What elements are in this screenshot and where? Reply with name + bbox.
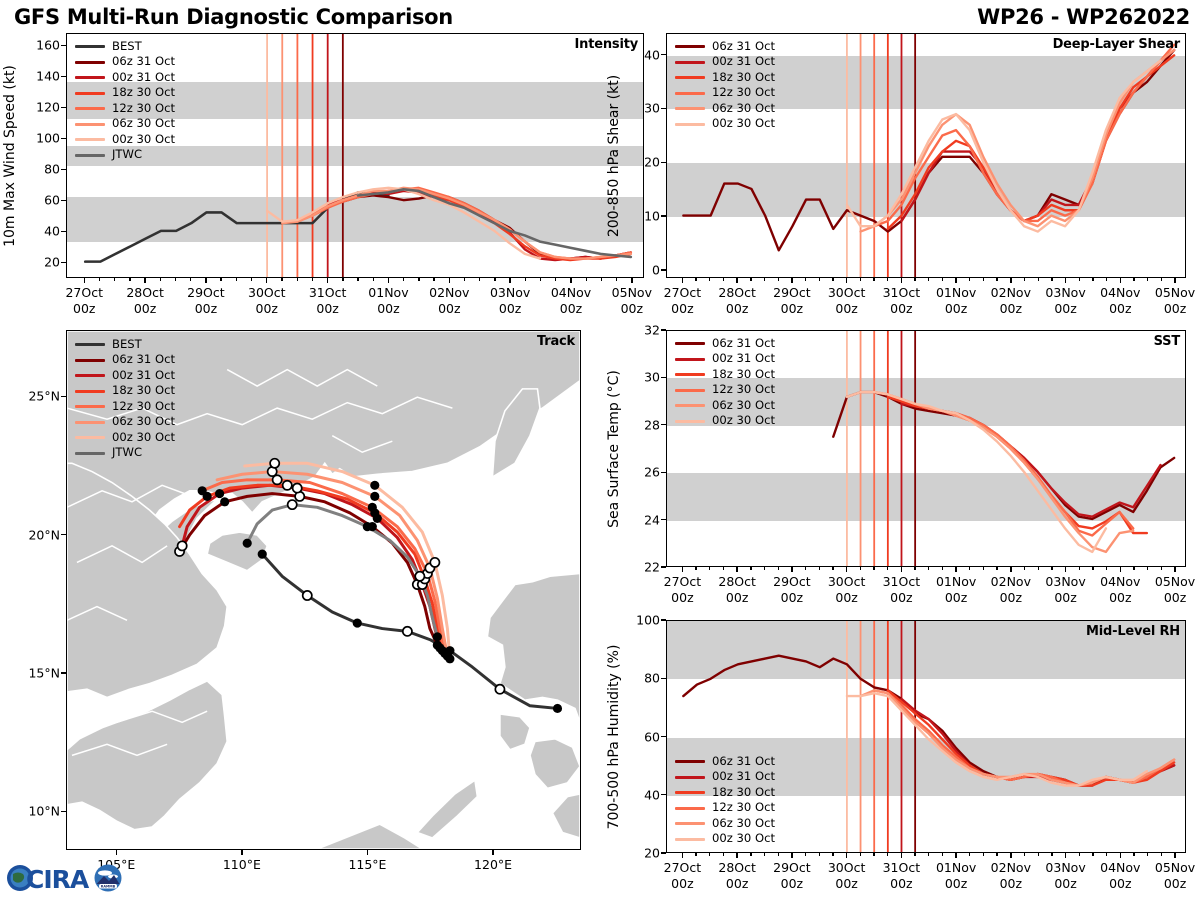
x-tick-mark-minor [764,853,765,856]
legend-item-12z-30-oct[interactable]: 12z 30 Oct [675,801,775,817]
x-tick-mark-minor [540,278,541,281]
lon-tick-mark [367,850,368,855]
x-tick-mark-minor [1161,853,1162,856]
x-tick-mark [901,567,902,572]
legend-item-00z-30-oct[interactable]: 00z 30 Oct [675,832,775,848]
x-tick-mark [955,278,956,283]
x-tick-mark [846,278,847,283]
x-tick-label: 28Oct00z [718,285,756,316]
legend-item-06z-30-oct[interactable]: 06z 30 Oct [675,398,775,414]
legend-swatch [75,374,105,377]
y-tick-mark [61,138,66,139]
x-tick-mark [736,853,737,858]
x-tick-mark-minor [373,278,374,281]
legend-label: 12z 30 Oct [112,103,175,115]
x-tick-mark [1120,278,1121,283]
plot-area-intensity: IntensityBEST06z 31 Oct00z 31 Oct18z 30 … [66,33,644,278]
x-tick-mark-minor [778,278,779,281]
x-tick-mark-minor [928,853,929,856]
plot-area-track[interactable]: TrackBEST06z 31 Oct00z 31 Oct18z 30 Oct1… [66,330,581,850]
y-axis-label-intensity: 10m Max Wind Speed (kt) [2,65,18,247]
x-tick-mark-minor [873,567,874,570]
legend-label: 00z 31 Oct [112,72,175,84]
legend-label: 18z 30 Oct [712,369,775,381]
x-tick-mark-minor [1024,567,1025,570]
storm-id-title: WP26 - WP262022 [977,5,1190,29]
legend-label: 12z 30 Oct [112,401,175,413]
y-tick-mark [61,107,66,108]
x-tick-label: 05Nov00z [1155,860,1195,891]
x-tick-mark-minor [1079,853,1080,856]
legend-item-00z-31-oct[interactable]: 00z 31 Oct [75,70,175,86]
legend-item-06z-31-oct[interactable]: 06z 31 Oct [75,55,175,71]
x-tick-label: 01Nov00z [936,860,976,891]
x-tick-mark-minor [914,567,915,570]
x-tick-mark-minor [479,278,480,281]
x-tick-label: 27Oct00z [664,574,702,605]
legend-item-12z-30-oct[interactable]: 12z 30 Oct [75,101,175,117]
x-tick-mark-minor [129,278,130,281]
x-tick-label: 03Nov00z [490,285,530,316]
x-tick-mark-minor [297,278,298,281]
legend-label: 00z 30 Oct [712,118,775,130]
legend-label: 06z 31 Oct [112,354,175,366]
x-tick-mark-minor [819,278,820,281]
x-tick-mark-minor [1161,278,1162,281]
x-tick-mark-minor [586,278,587,281]
legend-item-00z-31-oct[interactable]: 00z 31 Oct [675,55,775,71]
y-tick-mark [661,619,666,620]
x-tick-mark [901,853,902,858]
y-tick-label: 24 [644,512,660,527]
x-tick-mark [509,278,510,283]
legend-swatch [675,404,705,407]
legend-item-00z-30-oct[interactable]: 00z 30 Oct [675,414,775,430]
x-tick-mark-minor [709,853,710,856]
x-tick-mark-minor [1133,567,1134,570]
legend-label: 18z 30 Oct [712,72,775,84]
y-tick-label: 22 [644,560,660,575]
legend-sst: 06z 31 Oct00z 31 Oct18z 30 Oct12z 30 Oct… [675,336,775,429]
x-tick-mark [955,567,956,572]
x-tick-mark-minor [887,567,888,570]
legend-label: 12z 30 Oct [712,87,775,99]
y-tick-mark [661,377,666,378]
y-tick-mark [661,108,666,109]
legend-rh: 06z 31 Oct00z 31 Oct18z 30 Oct12z 30 Oct… [675,754,775,847]
legend-item-12z-30-oct[interactable]: 12z 30 Oct [675,383,775,399]
x-tick-mark-minor [1079,567,1080,570]
x-tick-mark-minor [1038,853,1039,856]
y-tick-mark [661,215,666,216]
legend-swatch [675,838,705,841]
legend-item-18z-30-oct[interactable]: 18z 30 Oct [675,70,775,86]
y-tick-mark [61,169,66,170]
x-tick-mark-minor [1051,278,1052,281]
legend-swatch [675,45,705,48]
x-tick-mark-minor [873,853,874,856]
x-tick-mark-minor [433,278,434,281]
legend-item-00z-31-oct[interactable]: 00z 31 Oct [675,770,775,786]
x-tick-mark [682,853,683,858]
x-tick-mark-minor [832,567,833,570]
legend-item-18z-30-oct[interactable]: 18z 30 Oct [75,384,175,400]
x-tick-mark-minor [1051,853,1052,856]
x-tick-mark-minor [887,853,888,856]
x-tick-mark [388,278,389,283]
legend-label: 06z 30 Oct [712,400,775,412]
legend-label: 06z 31 Oct [712,41,775,53]
legend-item-06z-31-oct[interactable]: 06z 31 Oct [675,39,775,55]
panel-intensity: IntensityBEST06z 31 Oct00z 31 Oct18z 30 … [66,33,644,278]
y-axis-label-shear: 200-850 hPa Shear (kt) [606,74,622,236]
x-tick-mark-minor [312,278,313,281]
legend-swatch [75,92,105,95]
legend-item-jtwc[interactable]: JTWC [75,446,175,462]
x-tick-label: 04Nov00z [1100,574,1140,605]
legend-label: 12z 30 Oct [712,384,775,396]
legend-item-00z-30-oct[interactable]: 00z 30 Oct [75,430,175,446]
x-tick-mark-minor [750,853,751,856]
lon-tick-mark [241,850,242,855]
legend-swatch [75,76,105,79]
x-tick-mark [791,278,792,283]
legend-label: 00z 31 Oct [712,56,775,68]
lat-tick-label: 25°N [28,389,60,404]
svg-text:CIRA: CIRA [26,865,90,894]
x-tick-mark [791,853,792,858]
legend-item-06z-31-oct[interactable]: 06z 31 Oct [675,754,775,770]
x-tick-mark [1174,853,1175,858]
x-tick-label: 02Nov00z [991,860,1031,891]
y-tick-label: 10 [644,209,660,224]
y-tick-label: 30 [644,370,660,385]
x-tick-mark-minor [494,278,495,281]
x-tick-mark-minor [281,278,282,281]
x-tick-mark-minor [887,278,888,281]
legend-item-06z-31-oct[interactable]: 06z 31 Oct [75,353,175,369]
x-tick-label: 29Oct00z [773,860,811,891]
x-tick-label: 27Oct00z [65,285,103,316]
legend-item-06z-30-oct[interactable]: 06z 30 Oct [75,415,175,431]
x-tick-mark [144,278,145,283]
x-tick-mark [1065,278,1066,283]
legend-item-06z-31-oct[interactable]: 06z 31 Oct [675,336,775,352]
x-tick-mark-minor [1024,278,1025,281]
x-tick-mark-minor [251,278,252,281]
legend-swatch [675,123,705,126]
legend-item-best[interactable]: BEST [75,39,175,55]
x-tick-label: 05Nov00z [1155,574,1195,605]
panel-shear: Deep-Layer Shear06z 31 Oct00z 31 Oct18z … [666,33,1186,278]
y-tick-mark [661,269,666,270]
x-tick-mark [1010,853,1011,858]
legend-intensity: BEST06z 31 Oct00z 31 Oct18z 30 Oct12z 30… [75,39,175,163]
y-tick-mark [661,162,666,163]
x-tick-mark-minor [778,567,779,570]
x-tick-mark [791,567,792,572]
legend-swatch [675,807,705,810]
legend-item-12z-30-oct[interactable]: 12z 30 Oct [675,86,775,102]
x-tick-label: 31Oct00z [309,285,347,316]
x-tick-mark-minor [99,278,100,281]
legend-label: 06z 30 Oct [712,103,775,115]
legend-swatch [75,61,105,64]
legend-swatch [675,373,705,376]
x-tick-mark-minor [969,278,970,281]
legend-swatch [675,791,705,794]
x-tick-label: 01Nov00z [936,285,976,316]
x-tick-mark-minor [1106,278,1107,281]
x-tick-mark-minor [1133,278,1134,281]
x-tick-label: 05Nov00z [612,285,652,316]
lat-tick-mark [61,534,66,535]
y-axis-label-rh: 700-500 hPa Humidity (%) [606,644,622,829]
x-tick-mark-minor [819,567,820,570]
x-tick-mark-minor [942,567,943,570]
x-tick-label: 29Oct00z [187,285,225,316]
legend-item-06z-30-oct[interactable]: 06z 30 Oct [75,117,175,133]
lon-tick-label: 120°E [474,857,512,873]
x-tick-mark-minor [942,853,943,856]
svg-text:RAMMB: RAMMB [101,885,116,889]
legend-swatch [675,420,705,423]
legend-swatch [675,76,705,79]
y-tick-mark [661,678,666,679]
legend-swatch [675,92,705,95]
x-tick-mark [1120,853,1121,858]
panel-sst: SST06z 31 Oct00z 31 Oct18z 30 Oct12z 30 … [666,330,1186,567]
legend-item-jtwc[interactable]: JTWC [75,148,175,164]
legend-item-00z-30-oct[interactable]: 00z 30 Oct [675,117,775,133]
legend-item-18z-30-oct[interactable]: 18z 30 Oct [675,367,775,383]
x-tick-mark-minor [236,278,237,281]
cira-logo: CIRA RAMMB [4,854,128,898]
x-tick-mark-minor [860,567,861,570]
x-tick-label: 29Oct00z [773,574,811,605]
legend-label: 12z 30 Oct [712,802,775,814]
legend-label: 00z 30 Oct [112,432,175,444]
legend-swatch [75,421,105,424]
x-tick-label: 02Nov00z [429,285,469,316]
x-tick-mark [1174,567,1175,572]
lat-tick-mark [61,672,66,673]
y-tick-mark [661,329,666,330]
y-tick-mark [661,794,666,795]
x-tick-mark [682,567,683,572]
x-tick-label: 04Nov00z [1100,285,1140,316]
y-tick-label: 30 [644,101,660,116]
legend-label: 00z 30 Oct [112,134,175,146]
x-tick-mark [1010,278,1011,283]
x-tick-mark-minor [1147,567,1148,570]
legend-swatch [75,154,105,157]
legend-item-06z-30-oct[interactable]: 06z 30 Oct [675,816,775,832]
y-tick-label: 0 [652,262,660,277]
legend-item-best[interactable]: BEST [75,337,175,353]
x-tick-label: 28Oct00z [718,574,756,605]
x-tick-mark [205,278,206,283]
x-tick-mark-minor [723,853,724,856]
y-tick-label: 60 [644,729,660,744]
x-tick-mark-minor [1092,567,1093,570]
legend-item-00z-31-oct[interactable]: 00z 31 Oct [75,368,175,384]
legend-swatch [675,107,705,110]
x-tick-mark-minor [764,278,765,281]
y-tick-mark [661,566,666,567]
x-tick-mark-minor [1079,278,1080,281]
y-tick-mark [61,200,66,201]
legend-swatch [675,342,705,345]
legend-swatch [75,107,105,110]
x-tick-mark-minor [1024,853,1025,856]
y-tick-mark [61,231,66,232]
y-tick-mark [661,472,666,473]
x-tick-mark [846,853,847,858]
x-tick-mark-minor [750,278,751,281]
legend-item-18z-30-oct[interactable]: 18z 30 Oct [75,86,175,102]
x-tick-label: 03Nov00z [1045,860,1085,891]
x-tick-mark [736,278,737,283]
legend-item-06z-30-oct[interactable]: 06z 30 Oct [675,101,775,117]
y-tick-label: 60 [44,193,60,208]
y-tick-label: 80 [44,162,60,177]
x-tick-label: 28Oct00z [126,285,164,316]
plot-area-shear: Deep-Layer Shear06z 31 Oct00z 31 Oct18z … [666,33,1186,278]
x-tick-mark-minor [805,567,806,570]
x-tick-label: 30Oct00z [248,285,286,316]
y-tick-label: 32 [644,323,660,338]
x-tick-mark-minor [860,853,861,856]
y-tick-mark [61,76,66,77]
x-tick-mark-minor [342,278,343,281]
y-tick-label: 160 [36,38,60,53]
legend-item-00z-31-oct[interactable]: 00z 31 Oct [675,352,775,368]
legend-label: 06z 30 Oct [112,416,175,428]
x-tick-label: 30Oct00z [828,860,866,891]
legend-label: 18z 30 Oct [112,87,175,99]
x-tick-mark-minor [1147,278,1148,281]
lon-tick-label: 115°E [348,857,386,873]
legend-shear: 06z 31 Oct00z 31 Oct18z 30 Oct12z 30 Oct… [675,39,775,132]
plot-area-rh: Mid-Level RH06z 31 Oct00z 31 Oct18z 30 O… [666,620,1186,853]
x-tick-label: 03Nov00z [1045,574,1085,605]
x-tick-mark [1065,567,1066,572]
x-tick-mark-minor [860,278,861,281]
x-tick-mark-minor [190,278,191,281]
x-tick-mark-minor [996,278,997,281]
x-tick-mark-minor [160,278,161,281]
lon-tick-mark [492,850,493,855]
x-tick-mark [901,278,902,283]
x-tick-mark [682,278,683,283]
legend-item-12z-30-oct[interactable]: 12z 30 Oct [75,399,175,415]
y-axis-label-sst: Sea Surface Temp (°C) [606,370,622,528]
x-tick-mark-minor [464,278,465,281]
y-tick-mark [661,424,666,425]
lat-tick-mark [61,811,66,812]
legend-swatch [675,776,705,779]
x-tick-mark-minor [928,278,929,281]
x-tick-label: 31Oct00z [883,285,921,316]
x-tick-label: 27Oct00z [664,860,702,891]
legend-swatch [75,452,105,455]
x-tick-label: 03Nov00z [1045,285,1085,316]
x-tick-mark [846,567,847,572]
legend-item-18z-30-oct[interactable]: 18z 30 Oct [675,785,775,801]
panel-track: TrackBEST06z 31 Oct00z 31 Oct18z 30 Oct1… [66,330,581,850]
x-tick-mark [955,853,956,858]
lat-tick-label: 15°N [28,665,60,680]
y-tick-label: 26 [644,465,660,480]
legend-swatch [675,389,705,392]
legend-label: 06z 30 Oct [712,818,775,830]
x-tick-mark [736,567,737,572]
x-tick-mark-minor [695,278,696,281]
x-tick-mark [1010,567,1011,572]
x-tick-mark-minor [616,278,617,281]
panel-title-track: Track [537,334,575,349]
legend-label: 18z 30 Oct [112,385,175,397]
lat-tick-label: 10°N [28,804,60,819]
y-tick-label: 40 [644,787,660,802]
x-tick-label: 05Nov00z [1155,285,1195,316]
x-tick-mark-minor [1106,567,1107,570]
x-tick-mark [449,278,450,283]
legend-swatch [75,138,105,141]
x-tick-label: 28Oct00z [718,860,756,891]
x-tick-mark [1120,567,1121,572]
x-tick-mark-minor [1092,278,1093,281]
legend-label: 06z 30 Oct [112,118,175,130]
x-tick-mark-minor [555,278,556,281]
lat-tick-mark [61,396,66,397]
x-tick-mark [631,278,632,283]
x-tick-mark-minor [996,853,997,856]
x-tick-mark-minor [403,278,404,281]
x-tick-mark-minor [1147,853,1148,856]
x-tick-mark-minor [1092,853,1093,856]
legend-swatch [75,45,105,48]
y-tick-mark [61,45,66,46]
x-tick-mark [84,278,85,283]
legend-swatch [675,61,705,64]
x-tick-mark-minor [969,853,970,856]
x-tick-mark-minor [764,567,765,570]
x-tick-mark-minor [723,567,724,570]
legend-item-00z-30-oct[interactable]: 00z 30 Oct [75,132,175,148]
y-tick-label: 20 [644,155,660,170]
x-tick-mark-minor [709,278,710,281]
y-tick-label: 100 [36,131,60,146]
panel-title-sst: SST [1154,334,1180,349]
y-tick-label: 40 [644,47,660,62]
x-tick-label: 02Nov00z [991,285,1031,316]
panel-title-rh: Mid-Level RH [1086,624,1180,639]
x-tick-mark-minor [969,567,970,570]
x-tick-mark-minor [805,278,806,281]
x-tick-mark-minor [114,278,115,281]
y-tick-label: 28 [644,417,660,432]
legend-swatch [75,436,105,439]
y-tick-label: 140 [36,69,60,84]
x-tick-label: 31Oct00z [883,860,921,891]
x-tick-label: 30Oct00z [828,574,866,605]
x-tick-mark-minor [175,278,176,281]
legend-swatch [75,359,105,362]
x-tick-mark [570,278,571,283]
x-tick-label: 27Oct00z [664,285,702,316]
